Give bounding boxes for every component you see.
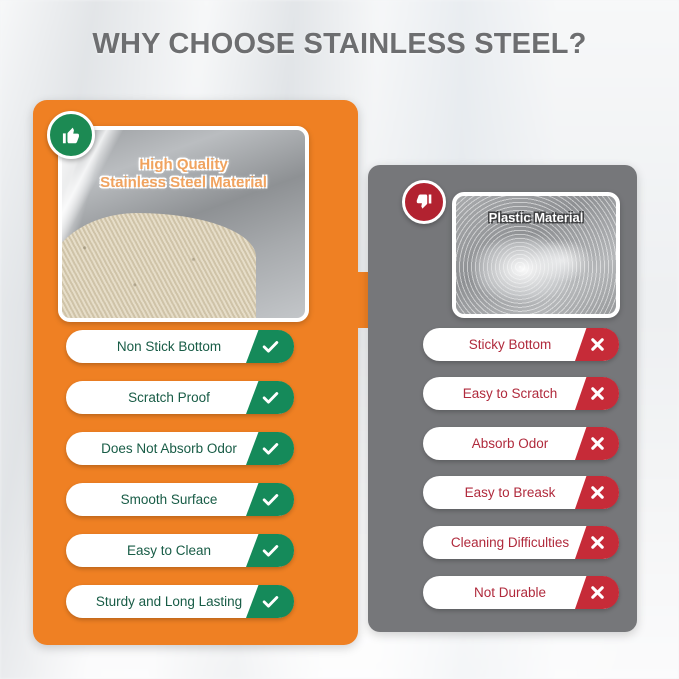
stainless-steel-photo-caption: High Quality Stainless Steel Material [62,156,305,191]
feature-row-bad[interactable]: Easy to Breask [423,476,619,509]
check-icon [246,534,294,567]
check-icon [246,585,294,618]
feature-row-good[interactable]: Sturdy and Long Lasting [66,585,294,618]
cross-icon [575,476,619,509]
cross-icon [575,526,619,559]
check-icon [246,330,294,363]
cross-icon [575,427,619,460]
feature-row-good[interactable]: Scratch Proof [66,381,294,414]
feature-row-bad[interactable]: Not Durable [423,576,619,609]
thumbs-up-icon [47,111,95,159]
litter-pile [58,213,256,322]
thumbs-down-icon [402,180,446,224]
cross-icon [575,328,619,361]
check-icon [246,381,294,414]
plastic-photo-caption: Plastic Material [456,210,616,225]
feature-row-good[interactable]: Easy to Clean [66,534,294,567]
check-icon [246,432,294,465]
stainless-steel-photo: High Quality Stainless Steel Material [58,126,309,322]
feature-row-bad[interactable]: Sticky Bottom [423,328,619,361]
feature-row-good[interactable]: Smooth Surface [66,483,294,516]
caption-line-2: Stainless Steel Material [100,174,267,191]
page-title: WHY CHOOSE STAINLESS STEEL? [0,28,679,61]
caption-line-1: High Quality [139,156,227,173]
check-icon [246,483,294,516]
feature-row-bad[interactable]: Absorb Odor [423,427,619,460]
plastic-material-photo: Plastic Material [452,192,620,318]
cross-icon [575,576,619,609]
feature-row-good[interactable]: Non Stick Bottom [66,330,294,363]
feature-row-bad[interactable]: Cleaning Difficulties [423,526,619,559]
feature-row-good[interactable]: Does Not Absorb Odor [66,432,294,465]
cross-icon [575,377,619,410]
feature-row-bad[interactable]: Easy to Scratch [423,377,619,410]
